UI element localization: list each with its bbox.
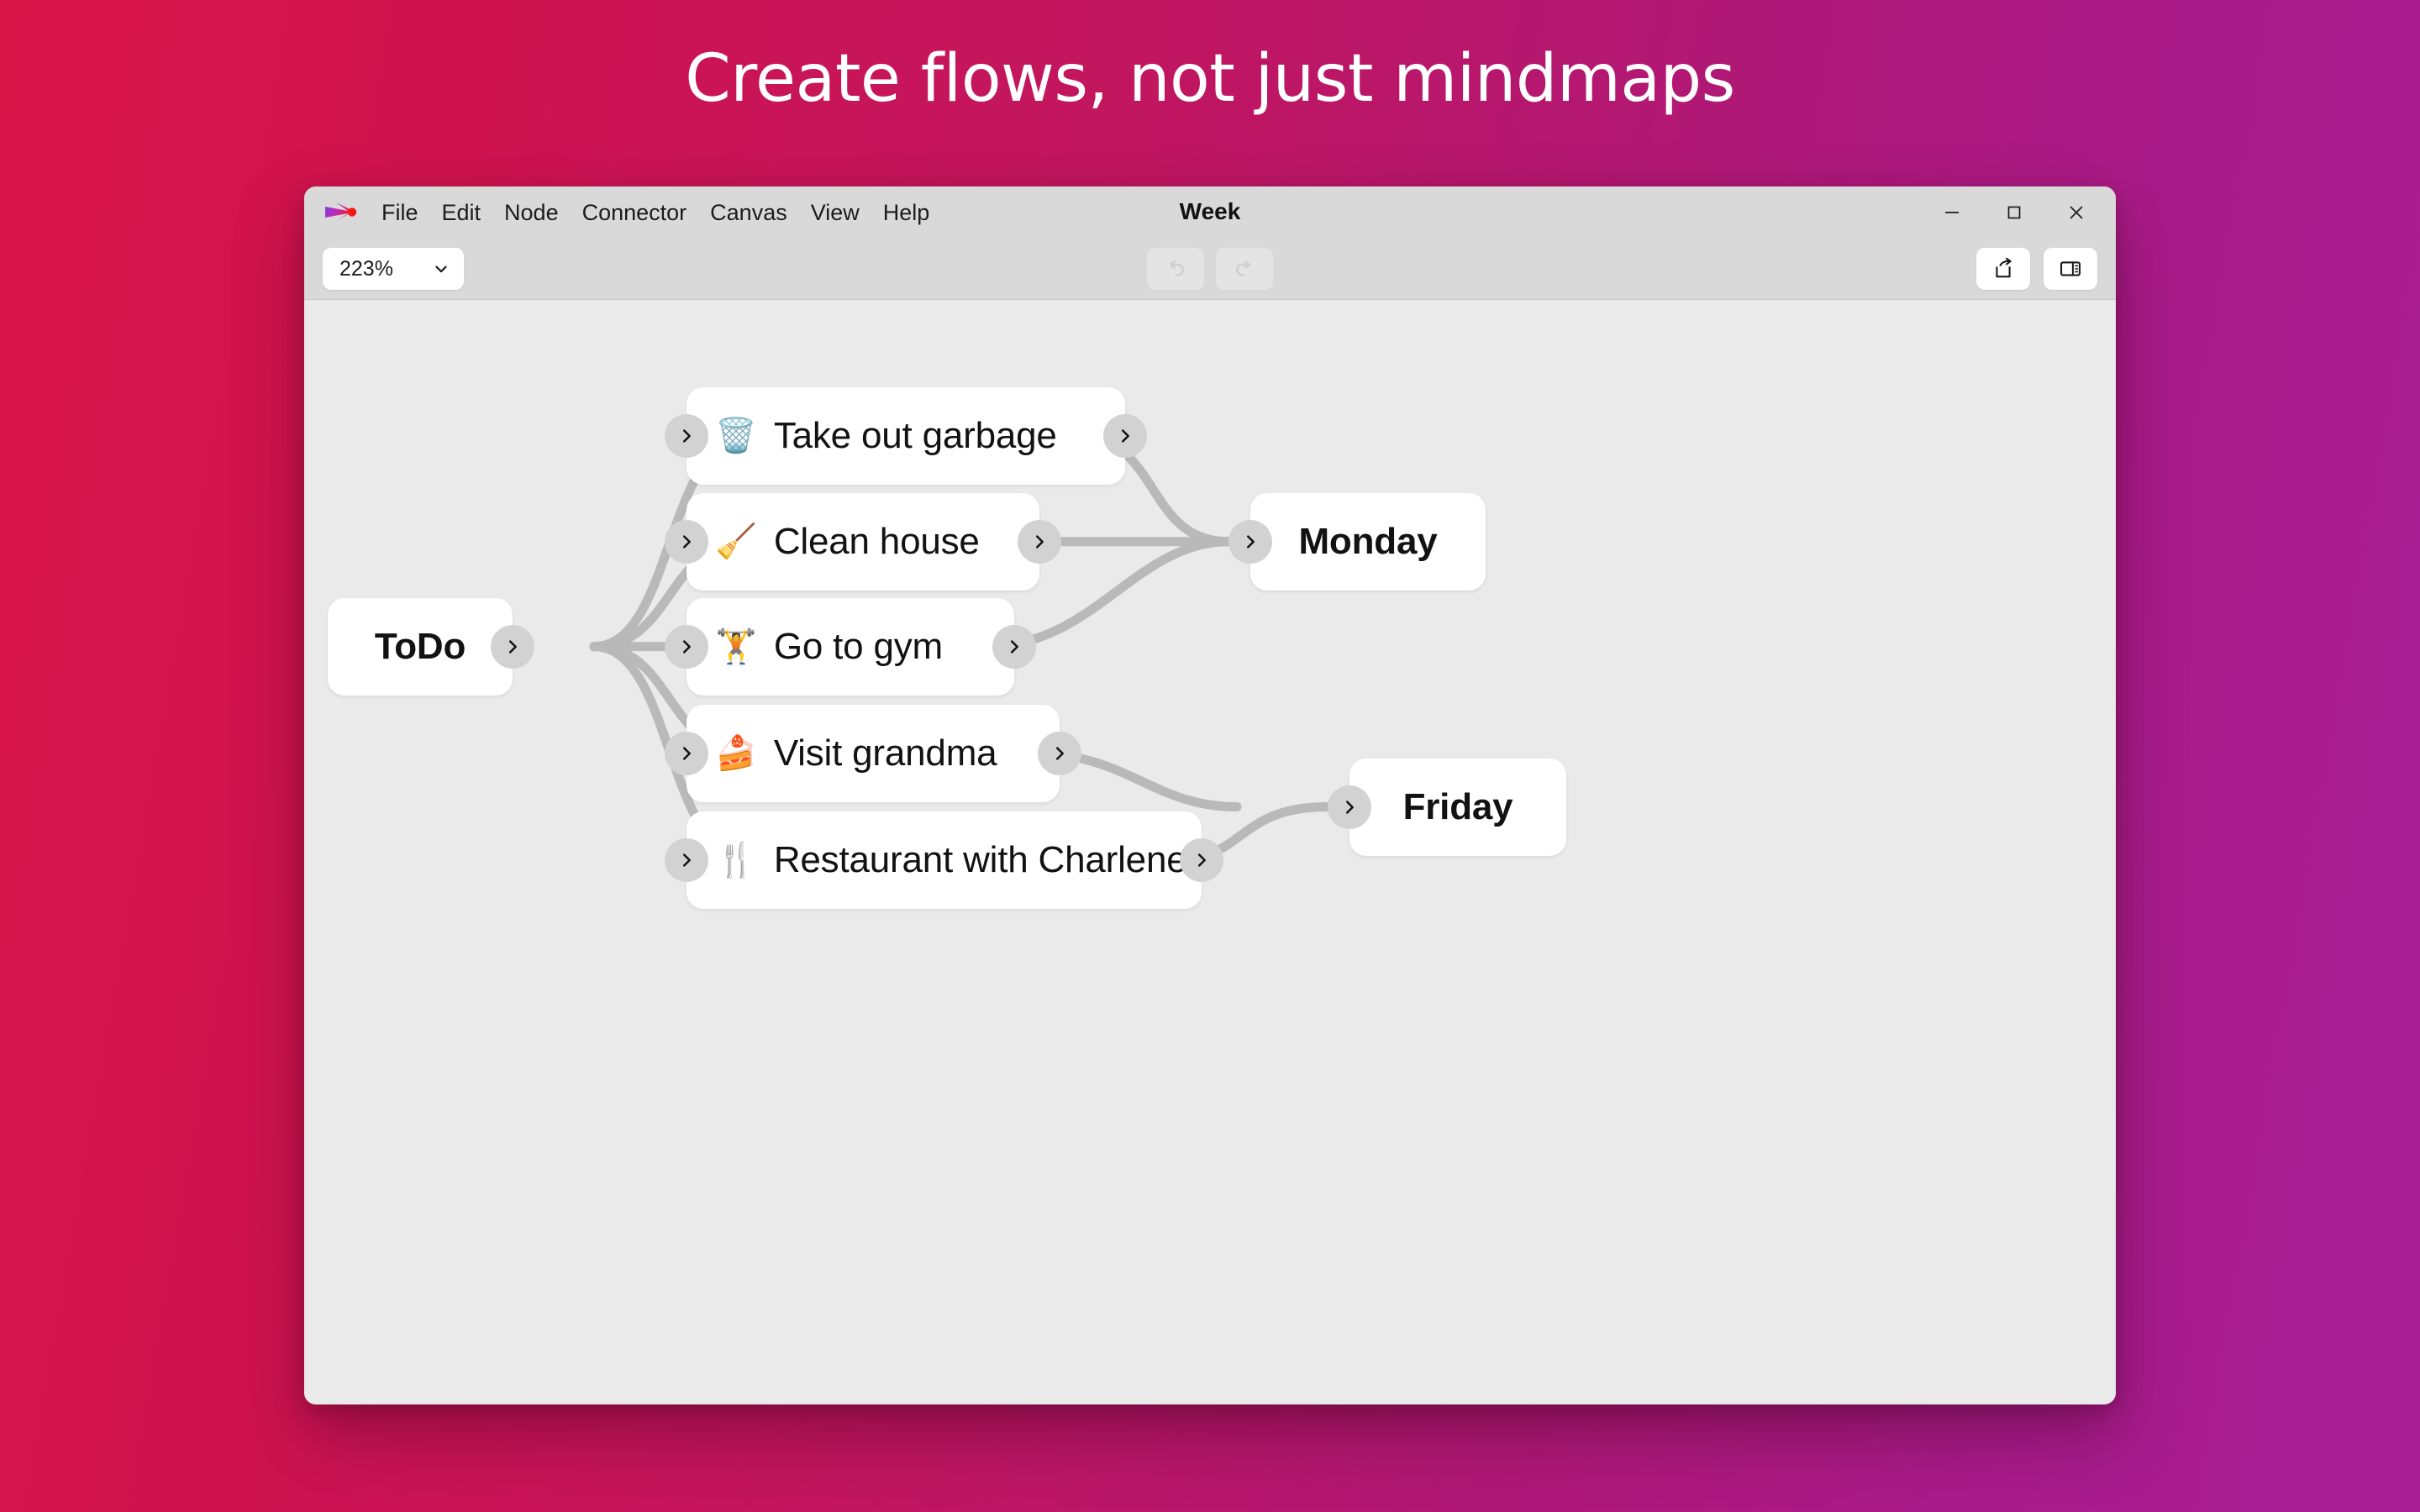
sidebar-panel-icon	[2059, 257, 2082, 281]
menu-item-canvas[interactable]: Canvas	[698, 195, 799, 231]
close-icon	[2066, 202, 2086, 223]
node-label: Clean house	[774, 521, 980, 563]
chevron-right-icon	[677, 427, 696, 445]
menu-item-connector[interactable]: Connector	[571, 195, 699, 231]
toolbar: 223%	[304, 239, 2116, 300]
minimize-button[interactable]	[1921, 190, 1983, 235]
node-todo-output-handle[interactable]	[491, 625, 534, 669]
node-restaurant-with-charlene-input-handle[interactable]	[665, 838, 708, 882]
chevron-right-icon	[1005, 638, 1023, 656]
menu-item-help[interactable]: Help	[871, 195, 942, 231]
node-label: Visit grandma	[774, 732, 997, 774]
node-visit-grandma-input-handle[interactable]	[665, 732, 708, 775]
node-friday[interactable]: Friday	[1349, 759, 1566, 856]
chevron-right-icon	[1030, 533, 1049, 551]
node-go-to-gym[interactable]: 🏋️ Go to gym	[687, 598, 1014, 696]
flow-canvas[interactable]: ToDo 🗑️ Take out garbage	[304, 300, 2116, 1404]
undo-icon	[1163, 256, 1188, 281]
node-visit-grandma[interactable]: 🍰 Visit grandma	[687, 705, 1060, 802]
close-button[interactable]	[2045, 190, 2107, 235]
chevron-right-icon	[1241, 533, 1260, 551]
node-take-out-garbage-output-handle[interactable]	[1103, 414, 1147, 458]
node-label: Restaurant with Charlene	[774, 839, 1187, 881]
arrow-logo-icon	[323, 196, 360, 229]
chevron-right-icon	[1192, 851, 1211, 869]
node-label: ToDo	[375, 626, 466, 668]
node-go-to-gym-output-handle[interactable]	[992, 625, 1036, 669]
cake-slice-icon: 🍰	[715, 737, 757, 770]
fork-and-knife-icon: 🍴	[715, 843, 757, 877]
toolbar-actions	[1976, 248, 2097, 290]
node-label: Take out garbage	[774, 415, 1057, 457]
node-clean-house[interactable]: 🧹 Clean house	[687, 493, 1039, 591]
chevron-right-icon	[677, 744, 696, 763]
node-take-out-garbage[interactable]: 🗑️ Take out garbage	[687, 387, 1125, 485]
chevron-right-icon	[503, 638, 522, 656]
menu-item-file[interactable]: File	[370, 195, 430, 231]
node-label: Monday	[1298, 521, 1437, 563]
node-take-out-garbage-input-handle[interactable]	[665, 414, 708, 458]
wastebasket-icon: 🗑️	[715, 419, 757, 453]
node-restaurant-with-charlene[interactable]: 🍴 Restaurant with Charlene	[687, 811, 1202, 909]
weightlifter-icon: 🏋️	[715, 630, 757, 664]
node-monday-input-handle[interactable]	[1228, 520, 1272, 564]
zoom-level-value: 223%	[339, 257, 393, 281]
chevron-down-icon	[432, 260, 450, 278]
history-buttons	[1147, 248, 1273, 290]
chevron-right-icon	[677, 638, 696, 656]
node-label: Go to gym	[774, 626, 943, 668]
node-visit-grandma-output-handle[interactable]	[1038, 732, 1081, 775]
node-clean-house-output-handle[interactable]	[1018, 520, 1061, 564]
node-label: Friday	[1403, 786, 1513, 828]
node-friday-input-handle[interactable]	[1328, 785, 1371, 829]
node-clean-house-input-handle[interactable]	[665, 520, 708, 564]
menu-item-edit[interactable]: Edit	[430, 195, 493, 231]
maximize-button[interactable]	[1983, 190, 2045, 235]
node-restaurant-with-charlene-output-handle[interactable]	[1180, 838, 1223, 882]
share-icon	[1991, 257, 2015, 281]
toggle-sidebar-button[interactable]	[2044, 248, 2097, 290]
undo-button[interactable]	[1147, 248, 1204, 290]
menu-bar: File Edit Node Connector Canvas View Hel…	[370, 195, 941, 231]
redo-icon	[1232, 256, 1257, 281]
node-monday[interactable]: Monday	[1250, 493, 1486, 591]
app-window: File Edit Node Connector Canvas View Hel…	[304, 186, 2116, 1404]
broom-icon: 🧹	[715, 525, 757, 559]
window-controls	[1921, 186, 2107, 239]
titlebar: File Edit Node Connector Canvas View Hel…	[304, 186, 2116, 239]
chevron-right-icon	[677, 851, 696, 869]
node-go-to-gym-input-handle[interactable]	[665, 625, 708, 669]
maximize-icon	[2004, 202, 2024, 223]
menu-item-view[interactable]: View	[799, 195, 871, 231]
chevron-right-icon	[1050, 744, 1069, 763]
chevron-right-icon	[1340, 798, 1359, 816]
minimize-icon	[1942, 202, 1962, 223]
share-button[interactable]	[1976, 248, 2030, 290]
redo-button[interactable]	[1216, 248, 1273, 290]
zoom-level-select[interactable]: 223%	[323, 248, 464, 290]
chevron-right-icon	[677, 533, 696, 551]
chevron-right-icon	[1116, 427, 1134, 445]
page-title: Create flows, not just mindmaps	[0, 44, 2420, 116]
menu-item-node[interactable]: Node	[492, 195, 571, 231]
node-todo[interactable]: ToDo	[328, 598, 513, 696]
